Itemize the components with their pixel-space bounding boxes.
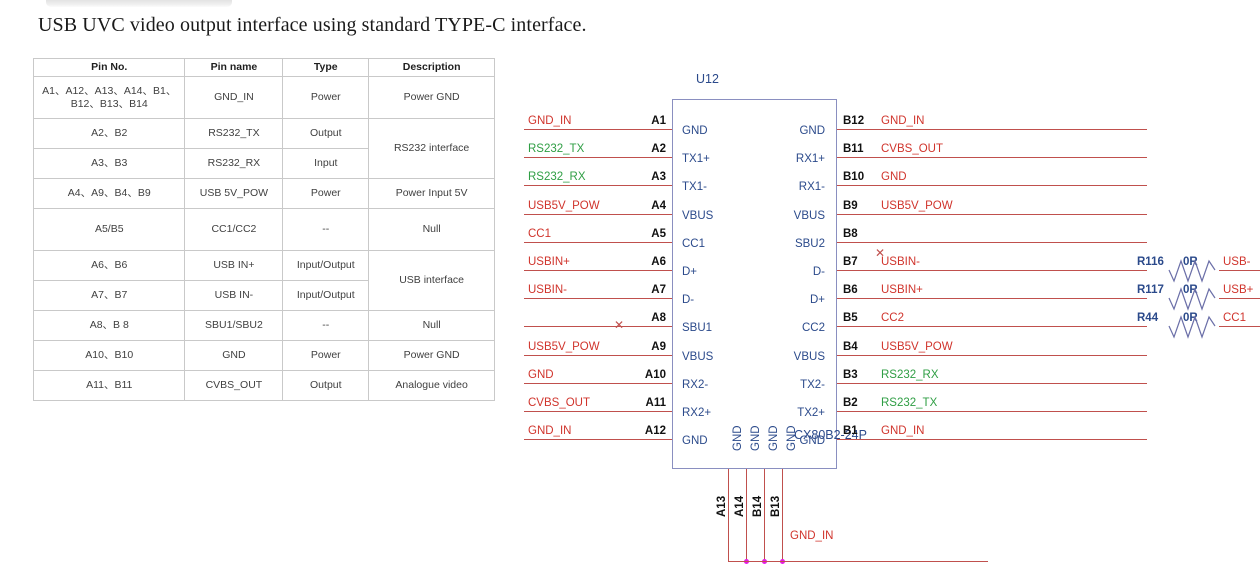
table-row: A8、B 8 SBU1/SBU2 -- Null [34, 311, 495, 341]
cell-type: Input/Output [283, 251, 369, 281]
net-wire-right-B7 [837, 270, 1147, 271]
pin-number-B1: B1 [843, 426, 858, 438]
pin-number-A6: A6 [632, 257, 666, 269]
net-wire-right-B6 [837, 298, 1147, 299]
net-label-B12: GND_IN [881, 116, 924, 128]
net-wire-out-R117 [1219, 298, 1260, 299]
cell-description: Power Input 5V [369, 179, 495, 209]
cell-description: RS232 interface [369, 119, 495, 179]
cell-description: Null [369, 311, 495, 341]
pin-number-A14: A14 [735, 496, 747, 517]
net-label-B1: GND_IN [881, 426, 924, 438]
inner-pin-name-B7: D- [682, 267, 825, 279]
no-connect-x-icon-B8: ✕ [875, 247, 885, 259]
pin-number-B4: B4 [843, 342, 858, 354]
resistor-designator-R116: R116 [1137, 257, 1164, 269]
cell-type: Power [283, 77, 369, 119]
inner-pin-name-bottom-B13: GND [787, 425, 799, 451]
table-row: A6、B6 USB IN+ Input/Output USB interface [34, 251, 495, 281]
net-label-B11: CVBS_OUT [881, 144, 943, 156]
no-connect-x-icon-A8: ✕ [614, 319, 624, 331]
cell-pin-name: GND [185, 341, 283, 371]
table-row: A4、A9、B4、B9 USB 5V_POW Power Power Input… [34, 179, 495, 209]
inner-pin-name-bottom-A14: GND [751, 425, 763, 451]
cell-pin-name: RS232_TX [185, 119, 283, 149]
top-accent-bar [46, 0, 232, 7]
inner-pin-name-B6: D+ [682, 295, 825, 307]
net-wire-left-A8 [524, 326, 672, 327]
chip-designator-label: U12 [696, 73, 719, 86]
net-wire-right-B2 [837, 411, 1147, 412]
net-wire-out-R44 [1219, 326, 1260, 327]
cell-pin-no: A3、B3 [34, 149, 185, 179]
schematic-diagram: U12 CX80B2-24P GND_IN GND_INA1GNDRS232_T… [500, 52, 1260, 442]
pin-number-B14: B14 [753, 496, 765, 517]
net-label-A4: USB5V_POW [528, 201, 600, 213]
pin-number-A2: A2 [632, 144, 666, 156]
net-wire-right-B5 [837, 326, 1147, 327]
pin-number-A11: A11 [632, 398, 666, 410]
pin-number-A12: A12 [632, 426, 666, 438]
resistor-designator-R117: R117 [1137, 285, 1164, 297]
net-label-B3: RS232_RX [881, 370, 939, 382]
cell-pin-name: RS232_RX [185, 149, 283, 179]
pin-number-B9: B9 [843, 201, 858, 213]
cell-pin-name: USB IN- [185, 281, 283, 311]
net-label-out-USB: USB- [1223, 257, 1250, 269]
pin-number-A7: A7 [632, 285, 666, 297]
pin-number-A4: A4 [632, 201, 666, 213]
net-wire-left-A1 [524, 129, 672, 130]
net-wire-left-A11 [524, 411, 672, 412]
cell-type: Power [283, 179, 369, 209]
net-label-A9: USB5V_POW [528, 342, 600, 354]
net-wire-out-R116 [1219, 270, 1260, 271]
cell-description: Analogue video [369, 371, 495, 401]
column-header-description: Description [369, 59, 495, 77]
inner-pin-name-B11: RX1+ [682, 154, 825, 166]
net-wire-right-B8 [837, 242, 1147, 243]
table-row: A11、B11 CVBS_OUT Output Analogue video [34, 371, 495, 401]
page-title: USB UVC video output interface using sta… [38, 14, 587, 37]
net-label-A12: GND_IN [528, 426, 571, 438]
resistor-designator-R44: R44 [1137, 313, 1158, 325]
cell-pin-name: GND_IN [185, 77, 283, 119]
cell-type: Power [283, 341, 369, 371]
pin-number-A13: A13 [717, 496, 729, 517]
cell-type: -- [283, 311, 369, 341]
table-row: A1、A12、A13、A14、B1、B12、B13、B14 GND_IN Pow… [34, 77, 495, 119]
pin-number-B6: B6 [843, 285, 858, 297]
net-wire-left-A4 [524, 214, 672, 215]
cell-pin-name: CVBS_OUT [185, 371, 283, 401]
cell-pin-no: A7、B7 [34, 281, 185, 311]
inner-pin-name-B9: VBUS [682, 211, 825, 223]
net-label-B10: GND [881, 172, 907, 184]
net-label-A11: CVBS_OUT [528, 398, 590, 410]
pin-number-A9: A9 [632, 342, 666, 354]
net-wire-right-B1 [837, 439, 1147, 440]
pin-number-A3: A3 [632, 172, 666, 184]
bottom-net-label: GND_IN [790, 531, 833, 543]
net-label-A1: GND_IN [528, 116, 571, 128]
net-label-A2: RS232_TX [528, 144, 584, 156]
net-label-B2: RS232_TX [881, 398, 937, 410]
pin-number-B2: B2 [843, 398, 858, 410]
column-header-pin-name: Pin name [185, 59, 283, 77]
cell-type: Input/Output [283, 281, 369, 311]
net-wire-right-B4 [837, 355, 1147, 356]
net-wire-right-B11 [837, 157, 1147, 158]
net-wire-right-B9 [837, 214, 1147, 215]
net-wire-right-B3 [837, 383, 1147, 384]
inner-pin-name-B4: VBUS [682, 352, 825, 364]
table-header-row: Pin No. Pin name Type Description [34, 59, 495, 77]
pin-number-B8: B8 [843, 229, 858, 241]
cell-pin-no: A2、B2 [34, 119, 185, 149]
cell-type: -- [283, 209, 369, 251]
pin-number-A1: A1 [632, 116, 666, 128]
pin-number-B13: B13 [771, 496, 783, 517]
cell-pin-no: A1、A12、A13、A14、B1、B12、B13、B14 [34, 77, 185, 119]
inner-pin-name-B12: GND [682, 126, 825, 138]
cell-type: Input [283, 149, 369, 179]
net-label-B6: USBIN+ [881, 285, 923, 297]
net-label-B7: USBIN- [881, 257, 920, 269]
net-label-A3: RS232_RX [528, 172, 586, 184]
resistor-symbol-R44 [1169, 315, 1221, 345]
table-row: A5/B5 CC1/CC2 -- Null [34, 209, 495, 251]
net-wire-left-A6 [524, 270, 672, 271]
net-wire-right-B12 [837, 129, 1147, 130]
inner-pin-name-B2: TX2+ [682, 408, 825, 420]
pin-number-B10: B10 [843, 172, 864, 184]
net-label-B4: USB5V_POW [881, 342, 953, 354]
net-wire-left-A12 [524, 439, 672, 440]
inner-pin-name-B10: RX1- [682, 182, 825, 194]
cell-type: Output [283, 119, 369, 149]
cell-pin-no: A11、B11 [34, 371, 185, 401]
table-row: A2、B2 RS232_TX Output RS232 interface [34, 119, 495, 149]
net-wire-left-A9 [524, 355, 672, 356]
cell-pin-no: A6、B6 [34, 251, 185, 281]
cell-description: USB interface [369, 251, 495, 311]
pin-number-B11: B11 [843, 144, 863, 156]
net-label-out-USB: USB+ [1223, 285, 1253, 297]
table-row: A10、B10 GND Power Power GND [34, 341, 495, 371]
cell-description: Power GND [369, 341, 495, 371]
net-wire-left-A3 [524, 185, 672, 186]
pin-number-B7: B7 [843, 257, 858, 269]
pin-number-A8: A8 [632, 313, 666, 325]
pin-table-container: Pin No. Pin name Type Description A1、A12… [33, 58, 495, 401]
pin-definition-table: Pin No. Pin name Type Description A1、A12… [33, 58, 495, 401]
pin-number-B12: B12 [843, 116, 864, 128]
net-wire-right-B10 [837, 185, 1147, 186]
net-label-A6: USBIN+ [528, 257, 570, 269]
inner-pin-name-bottom-A13: GND [733, 425, 745, 451]
cell-pin-no: A4、A9、B4、B9 [34, 179, 185, 209]
net-label-B9: USB5V_POW [881, 201, 953, 213]
inner-pin-name-bottom-B14: GND [769, 425, 781, 451]
net-wire-left-A7 [524, 298, 672, 299]
net-label-A7: USBIN- [528, 285, 567, 297]
cell-type: Output [283, 371, 369, 401]
cell-pin-no: A10、B10 [34, 341, 185, 371]
cell-pin-name: CC1/CC2 [185, 209, 283, 251]
inner-pin-name-B8: SBU2 [682, 239, 825, 251]
net-label-B5: CC2 [881, 313, 904, 325]
pin-number-A10: A10 [632, 370, 666, 382]
cell-pin-no: A5/B5 [34, 209, 185, 251]
cell-pin-no: A8、B 8 [34, 311, 185, 341]
net-wire-left-A5 [524, 242, 672, 243]
column-header-pin-no: Pin No. [34, 59, 185, 77]
net-wire-left-A2 [524, 157, 672, 158]
column-header-type: Type [283, 59, 369, 77]
cell-pin-name: USB IN+ [185, 251, 283, 281]
pin-number-B5: B5 [843, 313, 858, 325]
cell-description: Power GND [369, 77, 495, 119]
net-wire-left-A10 [524, 383, 672, 384]
inner-pin-name-B3: TX2- [682, 380, 825, 392]
cell-pin-name: SBU1/SBU2 [185, 311, 283, 341]
cell-pin-name: USB 5V_POW [185, 179, 283, 209]
inner-pin-name-B5: CC2 [682, 323, 825, 335]
pin-number-B3: B3 [843, 370, 858, 382]
net-label-A10: GND [528, 370, 554, 382]
pin-number-A5: A5 [632, 229, 666, 241]
cell-description: Null [369, 209, 495, 251]
bottom-gnd-rail [728, 561, 988, 562]
net-label-out-CC1: CC1 [1223, 313, 1246, 325]
net-label-A5: CC1 [528, 229, 551, 241]
